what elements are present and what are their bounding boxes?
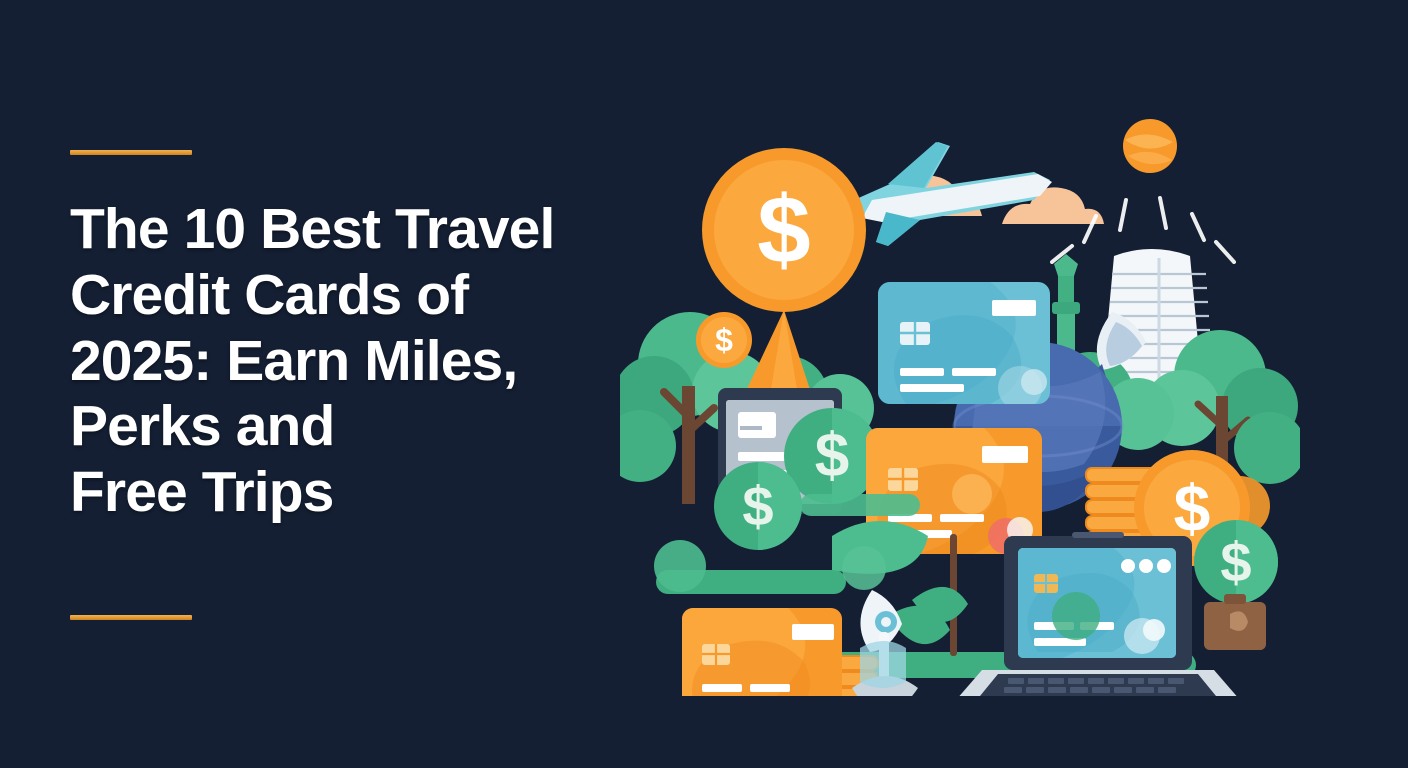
headline-line-2: Credit Cards of [70, 263, 468, 327]
credit-card-teal-icon [878, 282, 1050, 410]
dollar-coin-small-icon: $ [696, 312, 752, 368]
green-coin-icon: $ [714, 462, 802, 550]
gold-divider-top [70, 150, 192, 155]
headline-line-5: Free Trips [70, 460, 333, 524]
svg-text:$: $ [815, 422, 849, 491]
sun-icon [1123, 119, 1177, 173]
svg-text:$: $ [715, 322, 733, 358]
gold-divider-bottom [70, 615, 192, 620]
svg-text:$: $ [757, 177, 810, 284]
svg-text:$: $ [742, 475, 773, 538]
hero-illustration: $ $ [620, 96, 1300, 696]
page-title: The 10 Best Travel Credit Cards of 2025:… [70, 197, 610, 526]
headline-line-4: Perks and [70, 394, 334, 458]
svg-text:$: $ [1220, 531, 1251, 594]
page-background: The 10 Best Travel Credit Cards of 2025:… [0, 0, 1408, 768]
headline-block: The 10 Best Travel Credit Cards of 2025:… [70, 150, 630, 620]
suitcase-icon [1204, 594, 1266, 650]
headline-line-3: 2025: Earn Miles, [70, 329, 517, 393]
green-coin-icon: $ [1194, 520, 1278, 604]
headline-line-1: The 10 Best Travel [70, 197, 554, 261]
